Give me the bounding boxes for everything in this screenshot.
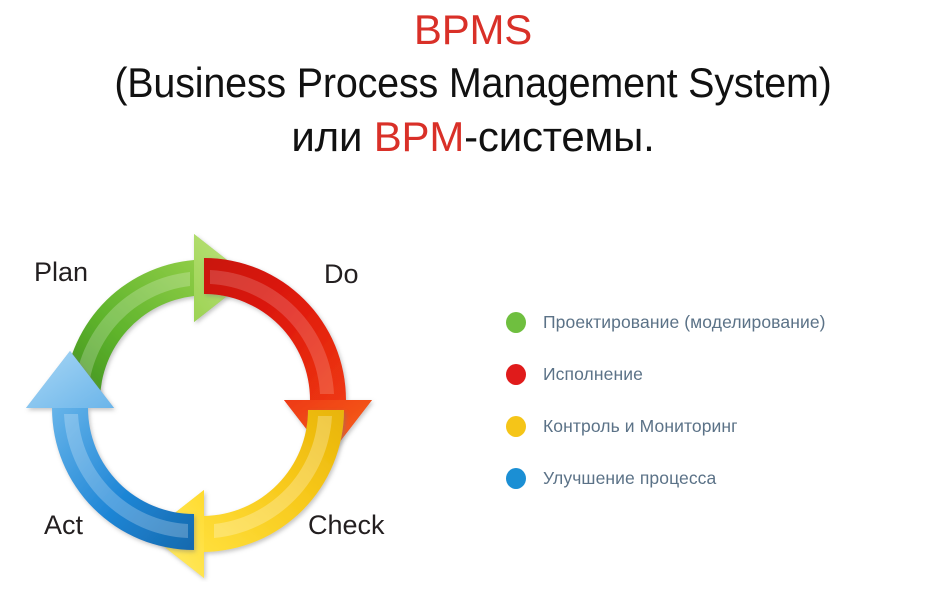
cycle-label-plan: Plan <box>34 257 88 288</box>
legend-label-improvement: Улучшение процесса <box>543 468 716 489</box>
slide-canvas: BPMS (Business Process Management System… <box>0 0 946 613</box>
page-title-line-3: или BPM-системы. <box>0 110 946 164</box>
title-line3-prefix: или <box>291 113 373 160</box>
cycle-label-do: Do <box>324 259 359 290</box>
legend-label-execution: Исполнение <box>543 364 643 385</box>
pdca-cycle-diagram: Plan Do Act Check <box>18 222 418 582</box>
legend-dot-green-icon <box>506 312 526 333</box>
title-bpms-acronym: BPMS <box>414 6 532 53</box>
title-block: BPMS (Business Process Management System… <box>0 0 946 164</box>
legend-label-control: Контроль и Мониторинг <box>543 416 738 437</box>
title-line3-suffix: -системы. <box>464 113 655 160</box>
legend-item-execution: Исполнение <box>506 348 926 400</box>
legend: Проектирование (моделирование) Исполнени… <box>506 296 926 504</box>
cycle-label-check: Check <box>308 510 385 541</box>
legend-dot-yellow-icon <box>506 416 526 437</box>
page-title-line-1: BPMS <box>0 0 946 56</box>
legend-dot-red-icon <box>506 364 526 385</box>
legend-dot-blue-icon <box>506 468 526 489</box>
title-bpm-acronym: BPM <box>374 113 464 160</box>
legend-label-design: Проектирование (моделирование) <box>543 312 826 333</box>
cycle-label-act: Act <box>44 510 83 541</box>
legend-item-control: Контроль и Мониторинг <box>506 400 926 452</box>
cycle-segment-check <box>148 410 344 578</box>
legend-item-improvement: Улучшение процесса <box>506 452 926 504</box>
page-title-line-2: (Business Process Management System) <box>28 56 917 110</box>
legend-item-design: Проектирование (моделирование) <box>506 296 926 348</box>
cycle-segment-plan <box>64 234 250 400</box>
